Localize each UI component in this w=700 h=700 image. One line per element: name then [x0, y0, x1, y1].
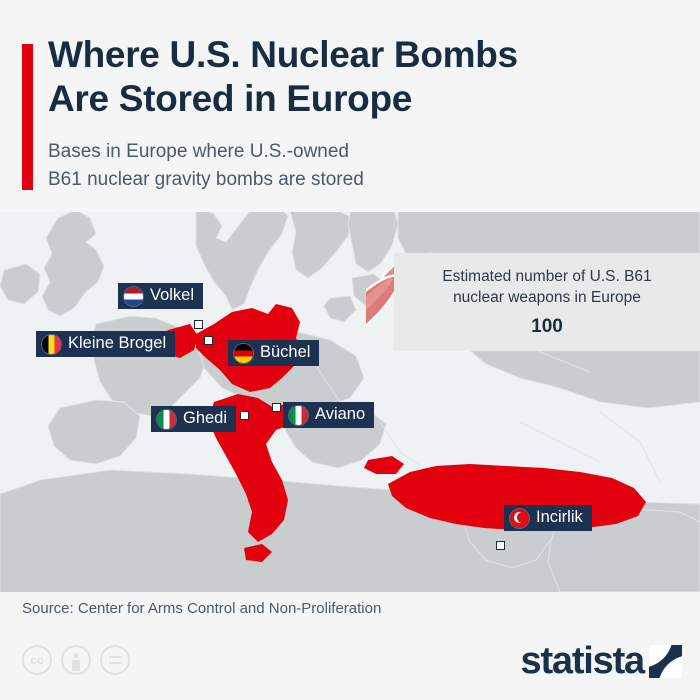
- base-label-text: Aviano: [315, 406, 365, 424]
- germany-flag-icon: [234, 344, 253, 363]
- statista-mark-icon: [649, 645, 682, 678]
- turkey-flag-icon: [510, 509, 529, 528]
- base-label-kleine-brogel[interactable]: Kleine Brogel: [36, 331, 175, 357]
- statista-wordmark: statista: [521, 642, 644, 680]
- info-panel: Estimated number of U.S. B61 nuclear wea…: [394, 253, 700, 351]
- base-label-text: Ghedi: [183, 410, 227, 428]
- base-label-text: Büchel: [260, 344, 310, 362]
- info-text-line-2: nuclear weapons in Europe: [394, 288, 700, 309]
- subtitle-line-1: Bases in Europe where U.S.-owned: [48, 138, 648, 166]
- info-panel-value: 100: [394, 316, 700, 338]
- title-line-1: Where U.S. Nuclear Bombs: [48, 33, 648, 77]
- person-head-shape: [74, 653, 79, 658]
- base-label-ghedi[interactable]: Ghedi: [151, 406, 236, 432]
- infographic-root: Where U.S. Nuclear Bombs Are Stored in E…: [0, 0, 700, 700]
- base-marker-volkel[interactable]: [194, 320, 203, 329]
- page-subtitle: Bases in Europe where U.S.-owned B61 nuc…: [48, 138, 648, 193]
- source-note: Source: Center for Arms Control and Non-…: [22, 600, 381, 617]
- info-panel-text: Estimated number of U.S. B61 nuclear wea…: [394, 267, 700, 309]
- no-derivatives-equals-icon: [100, 645, 130, 675]
- subtitle-line-2: B61 nuclear gravity bombs are stored: [48, 166, 648, 194]
- attribution-person-icon: [61, 645, 91, 675]
- base-label-text: Kleine Brogel: [68, 335, 166, 353]
- cc-badge-text: cc: [30, 653, 43, 667]
- statista-logo[interactable]: statista: [521, 642, 682, 680]
- base-label-incirlik[interactable]: Incirlik: [504, 505, 592, 531]
- belgium-flag-icon: [42, 335, 61, 354]
- page-title: Where U.S. Nuclear Bombs Are Stored in E…: [48, 33, 648, 120]
- base-marker-ghedi[interactable]: [240, 411, 249, 420]
- person-body-shape: [72, 660, 80, 671]
- base-label-text: Volkel: [150, 287, 194, 305]
- equals-shape: [109, 654, 122, 665]
- italy-flag-icon: [157, 410, 176, 429]
- title-accent-bar: [22, 44, 33, 190]
- base-marker-incirlik[interactable]: [496, 541, 505, 550]
- base-marker-aviano[interactable]: [272, 403, 281, 412]
- title-line-2: Are Stored in Europe: [48, 77, 648, 121]
- base-label-text: Incirlik: [536, 509, 583, 527]
- info-text-line-1: Estimated number of U.S. B61: [394, 267, 700, 288]
- base-marker-kleine-brogel[interactable]: [204, 336, 213, 345]
- base-label-aviano[interactable]: Aviano: [283, 402, 374, 428]
- creative-commons-icon: cc: [22, 645, 52, 675]
- license-badges: cc: [22, 645, 130, 675]
- base-label-volkel[interactable]: Volkel: [118, 283, 203, 309]
- netherlands-flag-icon: [124, 287, 143, 306]
- base-label-buchel[interactable]: Büchel: [228, 340, 319, 366]
- italy-flag-icon: [289, 406, 308, 425]
